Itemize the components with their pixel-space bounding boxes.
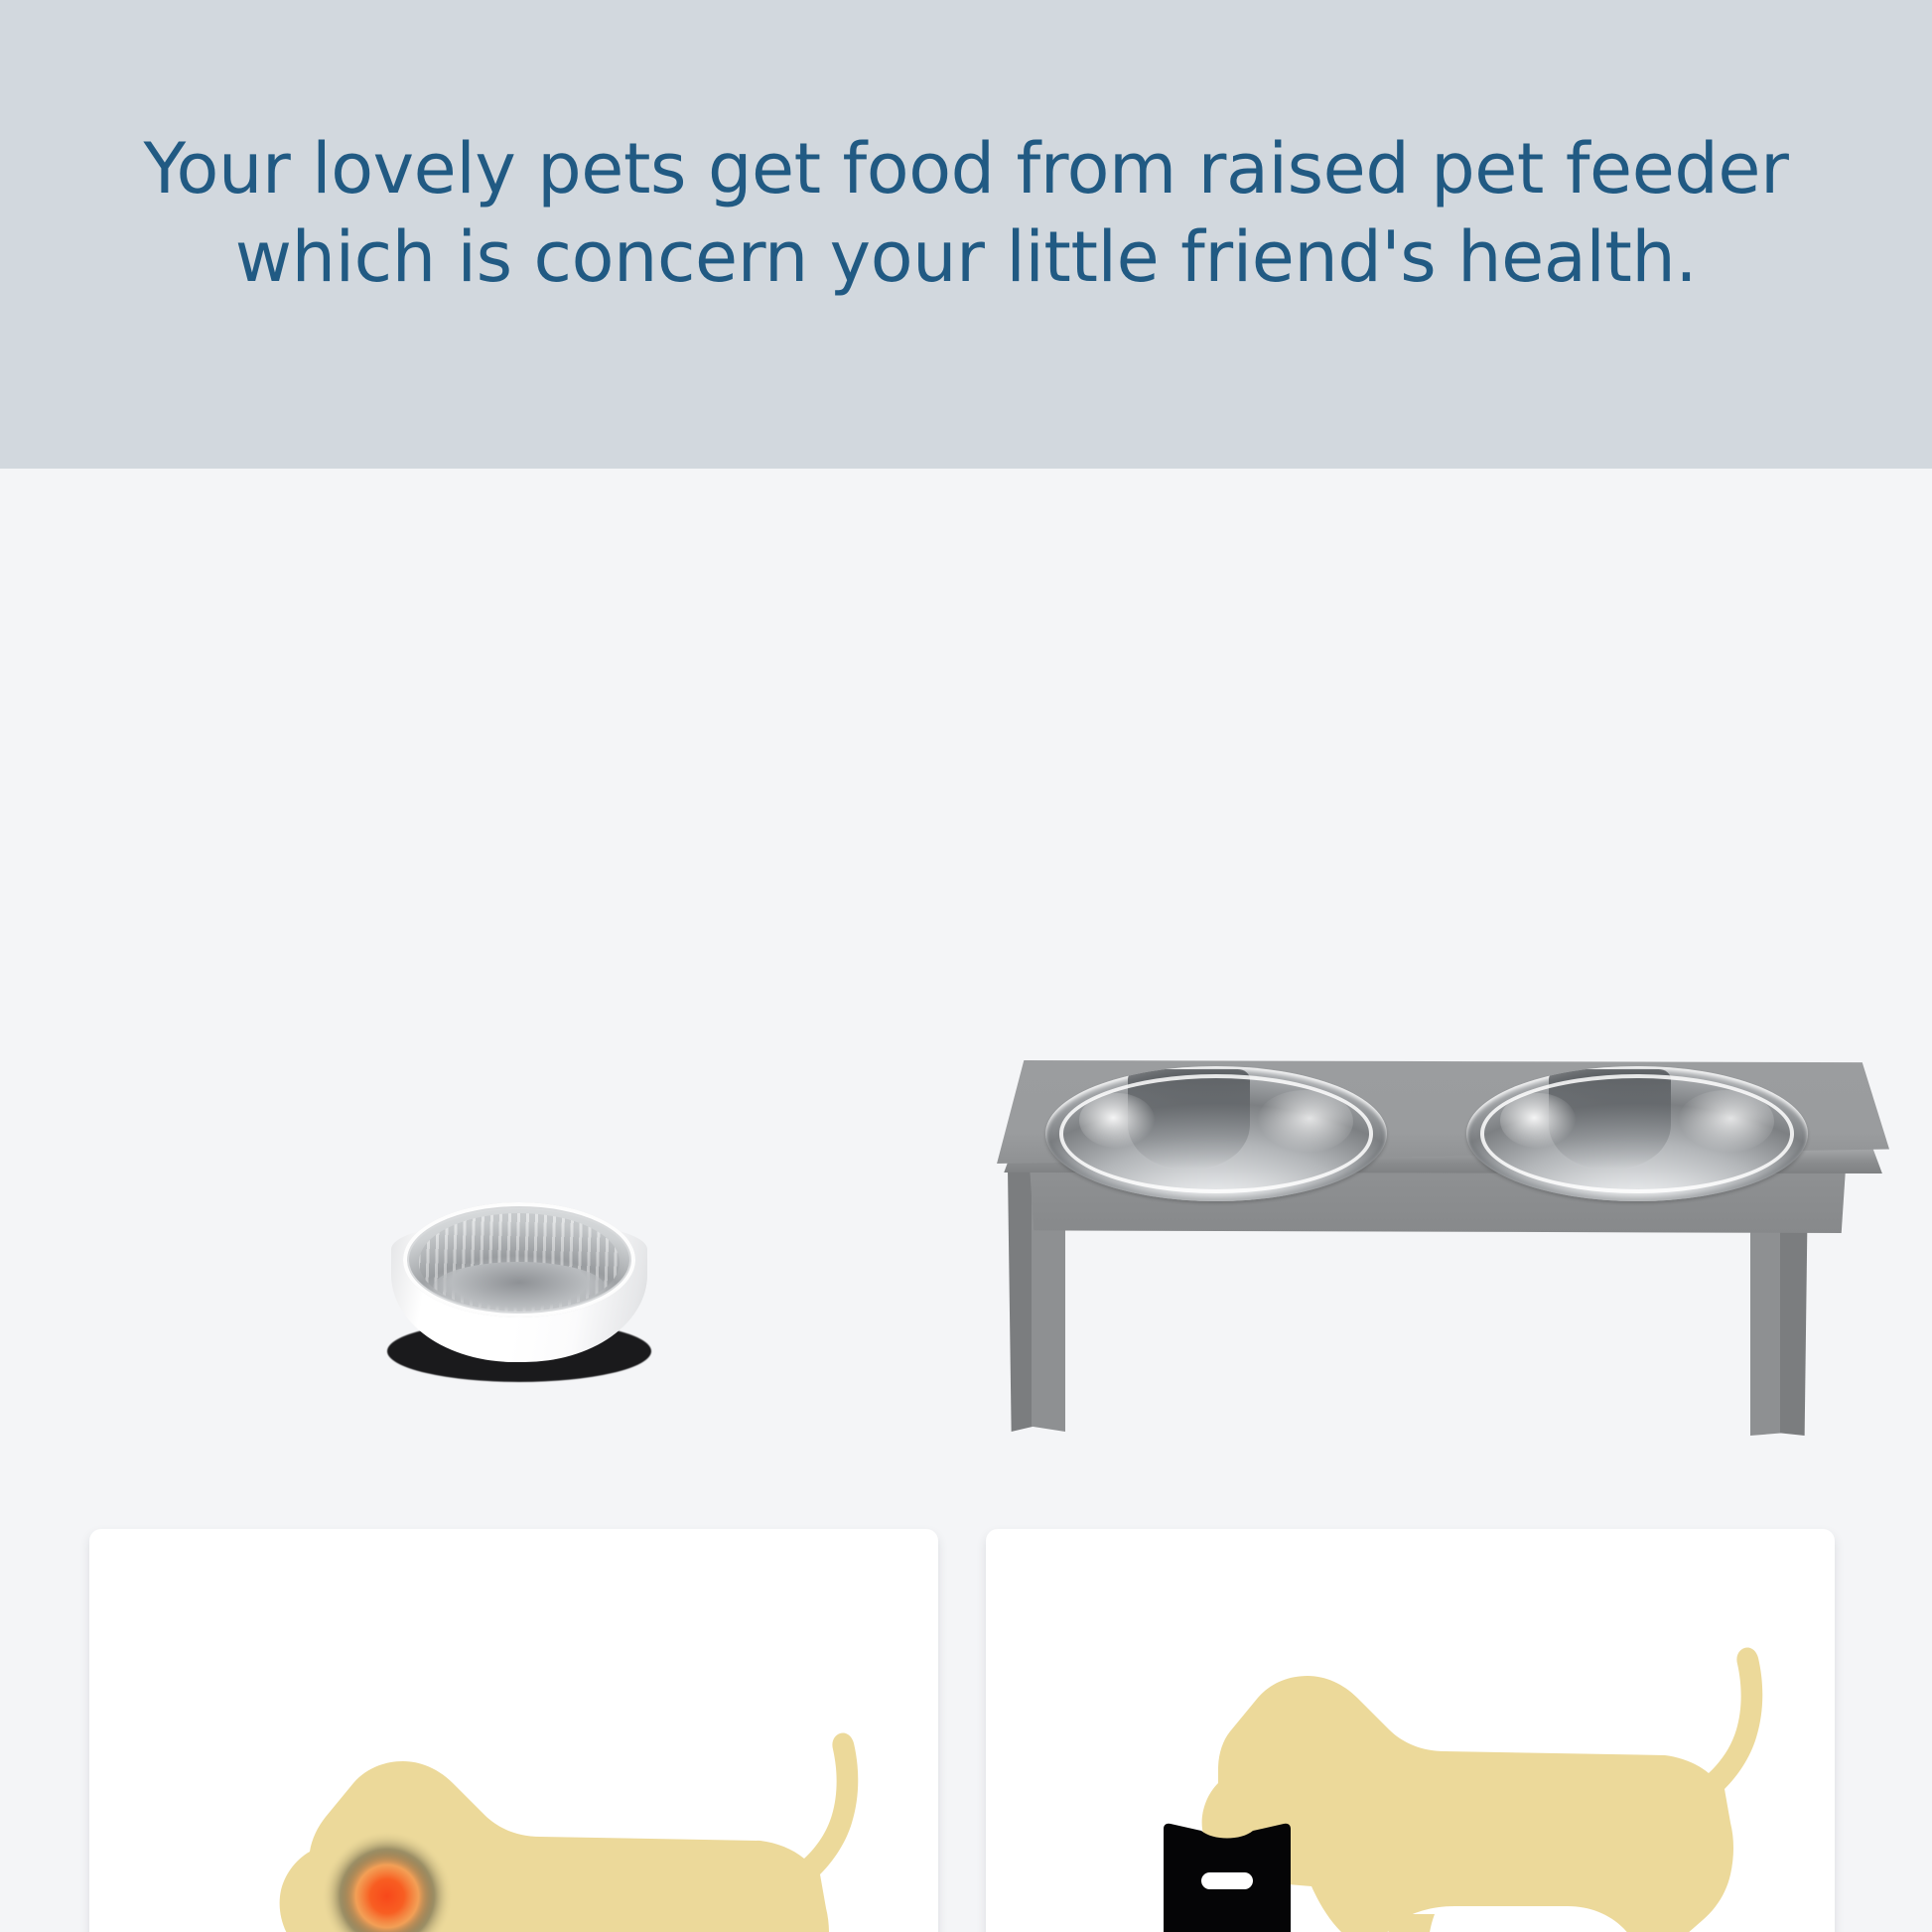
feeder-handle-slot xyxy=(1201,1872,1253,1889)
product-infographic: Your lovely pets get food from raised pe… xyxy=(0,0,1932,1932)
dog-silhouette-bending xyxy=(199,1648,923,1932)
raised-feeder-silhouette xyxy=(1158,1821,1297,1932)
header-band: Your lovely pets get food from raised pe… xyxy=(0,0,1932,469)
product-stage: Ordinary pet feeder Our pet feeder xyxy=(0,469,1932,1932)
comparison-card-ours xyxy=(986,1529,1835,1932)
comparison-card-ordinary xyxy=(89,1529,938,1932)
headline-text: Your lovely pets get food from raised pe… xyxy=(0,125,1932,302)
comparison-section: Ordinary pet feeder Our pet feeder xyxy=(0,469,1932,1932)
